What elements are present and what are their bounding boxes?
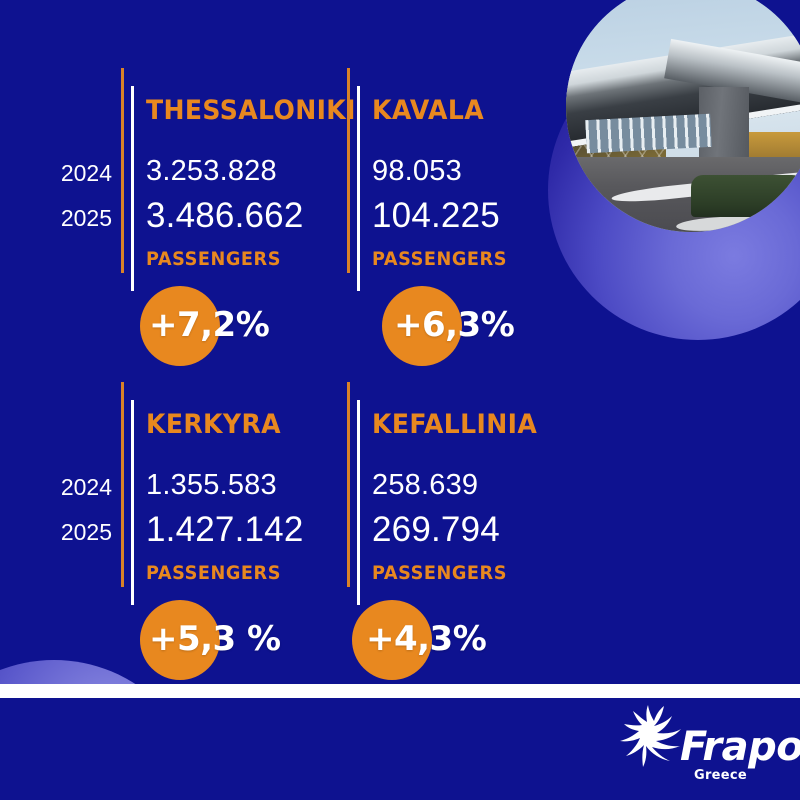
infographic-canvas: THESSALONIKI 2024 3.253.828 2025 3.486.6… <box>0 0 800 800</box>
unit-label-thessaloniki: PASSENGERS <box>146 248 281 270</box>
year-label-2024-thessaloniki: 2024 <box>36 160 112 187</box>
value-2024-kefallinia: 258.639 <box>372 469 478 502</box>
change-value-thessaloniki: +7,2% <box>149 305 269 345</box>
value-2024-thessaloniki: 3.253.828 <box>146 155 277 188</box>
airport-name-kefallinia: KEFALLINIA <box>372 409 537 440</box>
year-label-2025-thessaloniki: 2025 <box>36 205 112 232</box>
airport-name-thessaloniki: THESSALONIKI <box>146 95 356 126</box>
photo-walkway-bridge <box>585 114 712 153</box>
fraport-greece-logo: Fraport Greece <box>618 700 788 792</box>
airport-name-kerkyra: KERKYRA <box>146 409 281 440</box>
change-value-kerkyra: +5,3 % <box>149 619 281 659</box>
footer-divider <box>0 684 800 698</box>
airport-terminal-photo <box>566 0 800 232</box>
divider-orange-kavala <box>347 68 350 273</box>
year-label-2025-kerkyra: 2025 <box>36 519 112 546</box>
divider-white-kerkyra <box>131 400 134 605</box>
value-2025-kefallinia: 269.794 <box>372 510 500 550</box>
photo-hedge <box>691 175 800 218</box>
divider-white-thessaloniki <box>131 86 134 291</box>
airport-name-kavala: KAVALA <box>372 95 484 126</box>
fraport-wordmark: Fraport <box>680 724 800 770</box>
change-value-kefallinia: +4,3% <box>366 619 486 659</box>
value-2025-kerkyra: 1.427.142 <box>146 510 304 550</box>
divider-orange-thessaloniki <box>121 68 124 273</box>
unit-label-kerkyra: PASSENGERS <box>146 562 281 584</box>
change-value-kavala: +6,3% <box>394 305 514 345</box>
value-2024-kerkyra: 1.355.583 <box>146 469 277 502</box>
divider-orange-kerkyra <box>121 382 124 587</box>
value-2025-thessaloniki: 3.486.662 <box>146 196 304 236</box>
divider-orange-kefallinia <box>347 382 350 587</box>
divider-white-kefallinia <box>357 400 360 605</box>
divider-white-kavala <box>357 86 360 291</box>
year-label-2024-kerkyra: 2024 <box>36 474 112 501</box>
value-2025-kavala: 104.225 <box>372 196 500 236</box>
value-2024-kavala: 98.053 <box>372 155 462 188</box>
unit-label-kefallinia: PASSENGERS <box>372 562 507 584</box>
unit-label-kavala: PASSENGERS <box>372 248 507 270</box>
fraport-greece-subtitle: Greece <box>694 768 747 783</box>
